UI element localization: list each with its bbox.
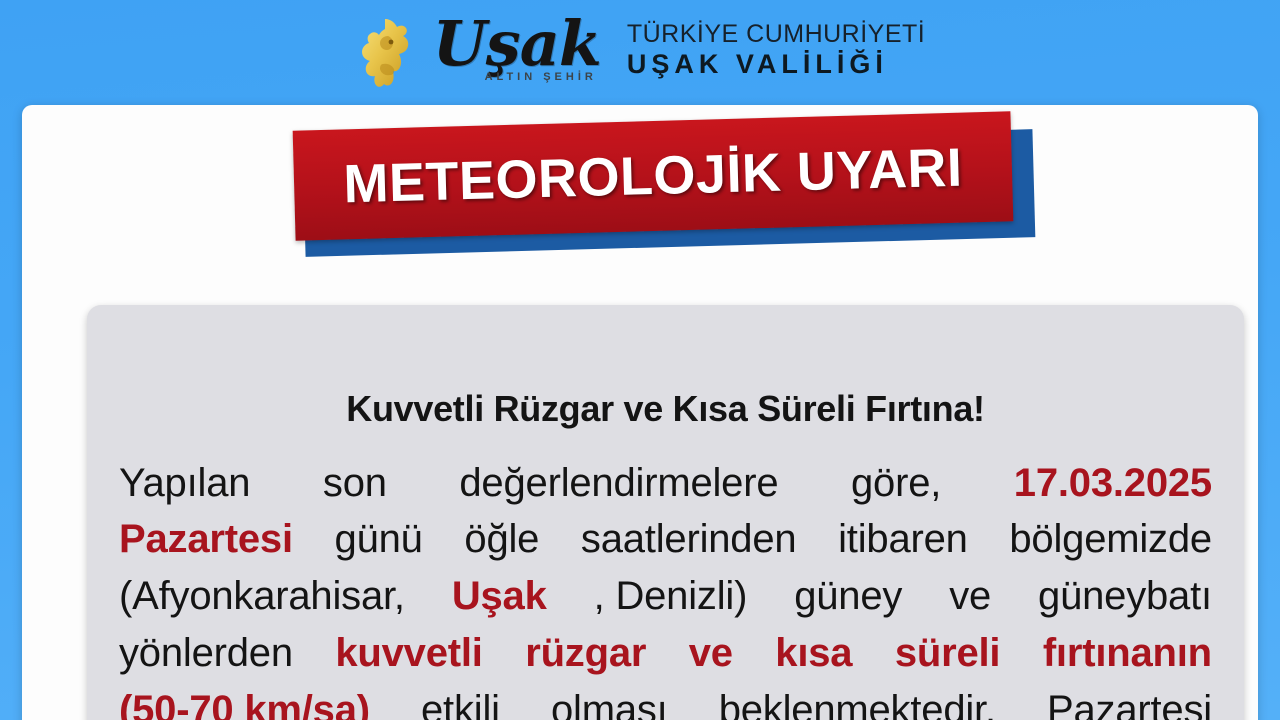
government-title-block: TÜRKİYE CUMHURİYETİ UŞAK VALİLİĞİ — [627, 20, 925, 80]
notice-token: (Afyonkarahisar, — [119, 568, 405, 625]
notice-highlight-token: (50-70 km/sa) — [119, 682, 370, 720]
notice-highlight-token: süreli — [895, 625, 1001, 682]
notice-highlight-token: kuvvetli — [335, 625, 482, 682]
notice-line: Pazartesigünüöğlesaatlerindenitibarenböl… — [119, 511, 1212, 568]
notice-token: etkili — [421, 682, 500, 720]
notice-body: Yapılansondeğerlendirmeleregöre,17.03.20… — [87, 429, 1244, 720]
notice-line: (Afyonkarahisar,Uşak, Denizli)güneyvegün… — [119, 568, 1212, 625]
notice-highlight-token: Pazartesi — [119, 511, 293, 568]
governorship-title: UŞAK VALİLİĞİ — [627, 49, 925, 80]
notice-token: olması — [551, 682, 668, 720]
notice-highlight-token: ve — [689, 625, 733, 682]
notice-token: güneybatı — [1038, 568, 1212, 625]
notice-line: yönlerdenkuvvetlirüzgarvekısasürelifırtı… — [119, 625, 1212, 682]
usak-logo: Uşak ALTIN ŞEHİR — [355, 12, 601, 92]
meteorological-warning-poster: Uşak ALTIN ŞEHİR TÜRKİYE CUMHURİYETİ UŞA… — [0, 0, 1280, 720]
notice-token: günü — [335, 511, 423, 568]
notice-highlight-token: rüzgar — [525, 625, 646, 682]
notice-token: yönlerden — [119, 625, 293, 682]
notice-panel: Kuvvetli Rüzgar ve Kısa Süreli Fırtına! … — [87, 305, 1244, 720]
usak-crest-icon — [355, 16, 429, 92]
warning-banner: METEOROLOJİK UYARI — [274, 113, 1034, 245]
warning-banner-plate: METEOROLOJİK UYARI — [293, 111, 1014, 240]
notice-highlight-token: kısa — [775, 625, 852, 682]
notice-line: (50-70 km/sa)etkiliolmasıbeklenmektedir.… — [119, 682, 1212, 720]
notice-token: beklenmektedir. — [719, 682, 996, 720]
notice-token: son — [323, 455, 387, 512]
notice-subheading: Kuvvetli Rüzgar ve Kısa Süreli Fırtına! — [87, 305, 1244, 429]
notice-token: öğle — [464, 511, 539, 568]
notice-token: göre, — [851, 455, 941, 512]
usak-wordmark: Uşak ALTIN ŞEHİR — [433, 14, 601, 83]
notice-token: değerlendirmelere — [459, 455, 778, 512]
notice-line: Yapılansondeğerlendirmeleregöre,17.03.20… — [119, 455, 1212, 512]
notice-highlight-token: fırtınanın — [1043, 625, 1212, 682]
notice-token: bölgemizde — [1009, 511, 1212, 568]
warning-banner-title: METEOROLOJİK UYARI — [343, 137, 964, 216]
notice-token: ve — [949, 568, 991, 625]
poster-header: Uşak ALTIN ŞEHİR TÜRKİYE CUMHURİYETİ UŞA… — [0, 0, 1280, 104]
notice-highlight-token: Uşak — [452, 568, 547, 625]
usak-tagline: ALTIN ŞEHİR — [485, 71, 597, 83]
notice-token: , Denizli) — [594, 568, 748, 625]
usak-wordmark-text: Uşak — [433, 14, 601, 75]
notice-highlight-token: 17.03.2025 — [1014, 455, 1212, 512]
notice-token: itibaren — [838, 511, 968, 568]
notice-token: güney — [794, 568, 902, 625]
notice-card: METEOROLOJİK UYARI Kuvvetli Rüzgar ve Kı… — [22, 105, 1258, 720]
notice-token: Pazartesi — [1047, 682, 1212, 720]
notice-token: Yapılan — [119, 455, 250, 512]
republic-title: TÜRKİYE CUMHURİYETİ — [627, 20, 925, 49]
notice-token: saatlerinden — [581, 511, 797, 568]
